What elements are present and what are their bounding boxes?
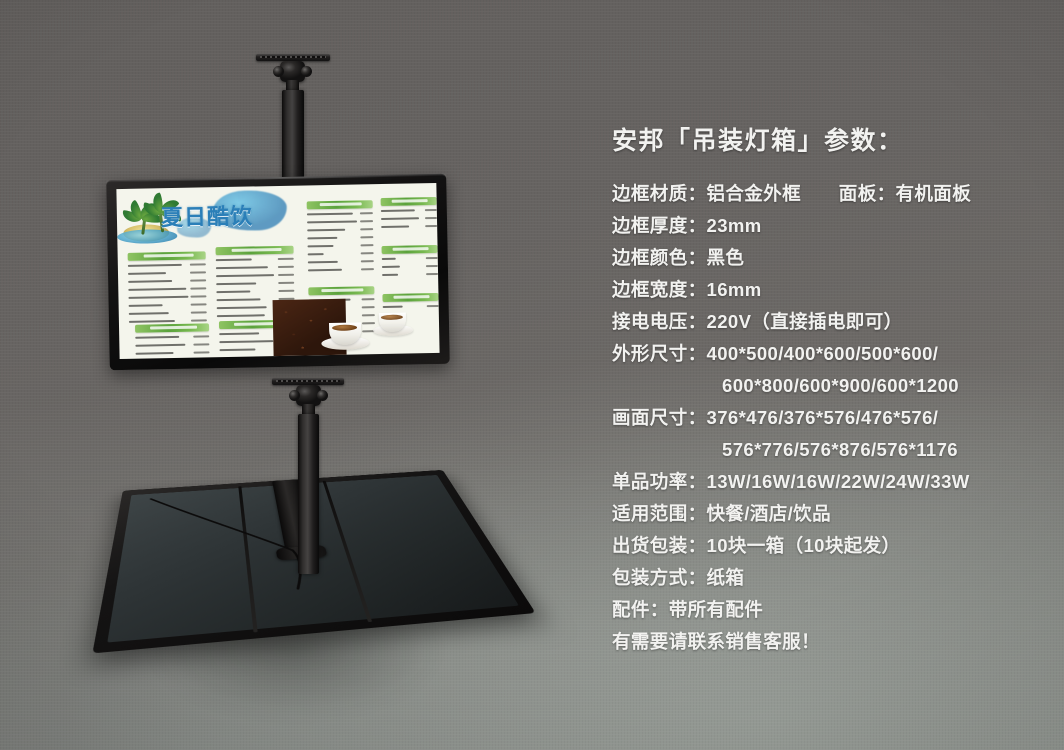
- menu-section-header: [381, 197, 437, 206]
- ceiling-mount-upper: [240, 50, 350, 180]
- spec-line: 配件：带所有配件: [612, 594, 1042, 626]
- menu-section-header: [135, 323, 209, 332]
- drop-pole-lower: [298, 414, 319, 574]
- menu-section-header: [308, 286, 374, 295]
- menu-section-header: [307, 200, 373, 209]
- pivot-nut-lower-right-icon: [317, 390, 328, 401]
- ceiling-mount-lower: [258, 374, 368, 554]
- pivot-nut-right-icon: [301, 66, 312, 77]
- spec-line: 画面尺寸：376*476/376*576/476*576/: [612, 402, 1042, 434]
- coffee-brew-graphic: [332, 324, 358, 331]
- pivot-nut-lower-left-icon: [289, 390, 300, 401]
- coffee-brew-back-graphic: [381, 314, 403, 320]
- menu-section-3: [135, 323, 210, 359]
- spec-line: 边框厚度：23mm: [612, 210, 1042, 242]
- menu-section-7: [381, 197, 438, 230]
- spec-line: 边框材质：铝合金外框 面板：有机面板: [612, 178, 1042, 210]
- spec-line: 576*776/576*876/576*1176: [612, 434, 1042, 466]
- spec-line: 出货包装：10块一箱（10块起发）: [612, 530, 1042, 562]
- spec-panel: 安邦「吊装灯箱」参数： 边框材质：铝合金外框 面板：有机面板边框厚度：23mm边…: [612, 126, 1042, 658]
- spec-line: 外形尺寸：400*500/400*600/500*600/: [612, 338, 1042, 370]
- spec-line: 接电电压：220V（直接插电即可）: [612, 306, 1042, 338]
- spec-line: 边框颜色：黑色: [612, 242, 1042, 274]
- product-photo: 夏日酷饮: [0, 0, 1064, 750]
- menu-section-header: [382, 245, 438, 254]
- menu-headline: 夏日酷饮: [161, 198, 254, 232]
- lightbox-front-panel: 夏日酷饮: [106, 174, 450, 370]
- ceiling-plate-icon: [256, 54, 330, 61]
- menu-section-header: [216, 246, 294, 255]
- coffee-photo: [272, 297, 439, 356]
- spec-line: 包装方式：纸箱: [612, 562, 1042, 594]
- pivot-nut-left-icon: [273, 66, 284, 77]
- menu-section-1: [128, 251, 207, 324]
- spec-line-list: 边框材质：铝合金外框 面板：有机面板边框厚度：23mm边框颜色：黑色边框宽度：1…: [612, 178, 1042, 658]
- menu-section-header: [128, 251, 206, 260]
- menu-section-5: [307, 200, 374, 273]
- spec-line: 适用范围：快餐/酒店/饮品: [612, 498, 1042, 530]
- drop-pole-upper: [282, 90, 304, 182]
- spec-line: 单品功率：13W/16W/16W/22W/24W/33W: [612, 466, 1042, 498]
- spec-line: 有需要请联系销售客服！: [612, 626, 1042, 658]
- spec-title: 安邦「吊装灯箱」参数：: [612, 126, 1042, 157]
- mount-plate-icon: [272, 378, 344, 385]
- menu-hero-artwork: 夏日酷饮: [116, 186, 296, 251]
- spec-line: 600*800/600*900/600*1200: [612, 370, 1042, 402]
- spec-line: 边框宽度：16mm: [612, 274, 1042, 306]
- menu-poster-face: 夏日酷饮: [116, 183, 439, 359]
- menu-section-8: [382, 245, 439, 278]
